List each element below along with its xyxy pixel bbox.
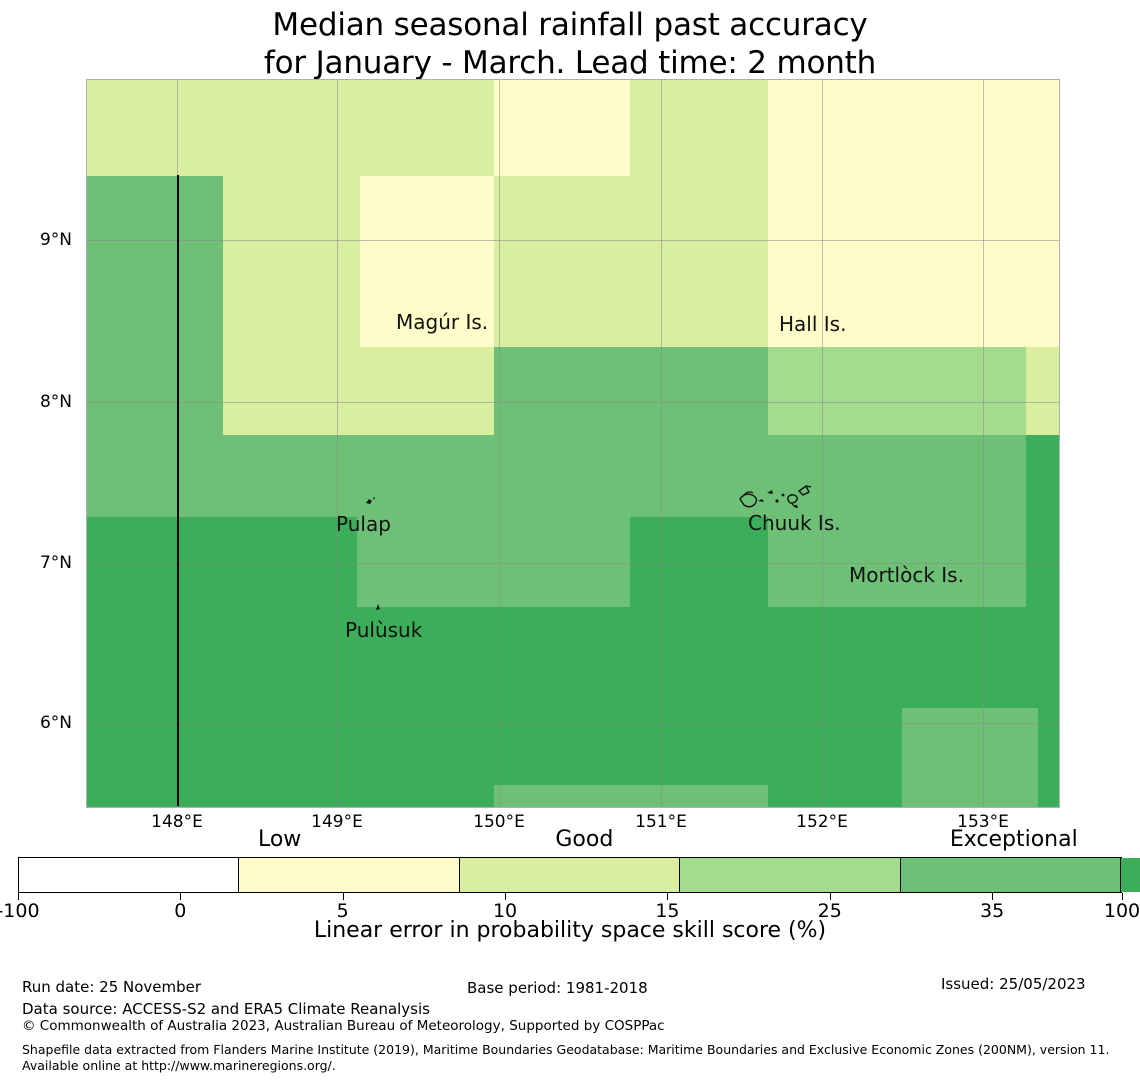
run-date-text: Run date: 25 November [22,978,201,996]
colorbar-tick [830,893,831,900]
colorbar: -1000510152535100LowGoodExceptional [18,857,1122,893]
x-axis-tick-label: 148°E [151,812,203,832]
map-place-label: Pulùsuk [345,618,422,642]
gridline-vertical [822,79,823,808]
gridline-vertical [983,79,984,808]
x-axis-tick-label: 151°E [635,812,687,832]
map-heatmap [86,79,1060,808]
colorbar-segment [900,858,1121,892]
gridline-vertical [499,79,500,808]
colorbar-axis-label: Linear error in probability space skill … [0,918,1140,943]
gridline-vertical [337,79,338,808]
colorbar-tick [18,893,19,900]
colorbar-segment [1120,858,1140,892]
heatmap-cell [360,176,494,262]
map-place-label: Magúr Is. [396,310,488,334]
island-shape-icon [367,600,391,620]
x-axis-tick-label: 153°E [957,812,1009,832]
heatmap-cell [494,785,768,808]
colorbar-tick [992,893,993,900]
heatmap-cell [86,435,1060,517]
colorbar-tick [667,893,668,900]
heatmap-cell [86,262,223,347]
heatmap-cell [768,176,1060,262]
gridline-horizontal [86,240,1060,241]
heatmap-cell [494,79,630,176]
heatmap-cell [223,347,494,435]
colorbar-segment [238,858,459,892]
colorbar-segment [459,858,680,892]
colorbar-tick [343,893,344,900]
gridline-horizontal [86,402,1060,403]
shapefile-attribution-text: Shapefile data extracted from Flanders M… [22,1042,1126,1074]
colorbar-category-label: Low [258,827,301,852]
island-shape-icon [358,494,384,514]
colorbar-segment [679,858,900,892]
issued-date-text: Issued: 25/05/2023 [941,975,1086,993]
x-axis-tick-label: 149°E [311,812,363,832]
heatmap-cell [1026,347,1060,435]
island-shape-icon [736,479,832,523]
heatmap-cell [494,262,630,347]
heatmap-cell [1026,517,1060,607]
gridline-horizontal [86,723,1060,724]
base-period-text: Base period: 1981-2018 [467,979,648,997]
colorbar-tick [505,893,506,900]
copyright-text: © Commonwealth of Australia 2023, Austra… [22,1018,665,1034]
colorbar-tick [180,893,181,900]
colorbar-segment [19,858,239,892]
colorbar-category-label: Good [555,827,613,852]
map-place-label: Mortlòck Is. [849,563,964,587]
heatmap-cell [86,176,223,262]
page-title: Median seasonal rainfall past accuracy f… [0,6,1140,82]
heatmap-cell [86,517,357,607]
colorbar-tick [1122,893,1123,900]
heatmap-cell [768,79,1060,176]
x-axis-tick-label: 150°E [473,812,525,832]
colorbar-gradient [18,857,1122,893]
map-place-label: Pulap [336,512,391,536]
map-place-label: Hall Is. [779,312,846,336]
x-axis-tick-label: 152°E [796,812,848,832]
heatmap-cell [360,262,494,347]
data-source-text: Data source: ACCESS-S2 and ERA5 Climate … [22,1000,430,1018]
heatmap-cell [1026,435,1060,517]
heatmap-cell [768,347,1026,435]
meridian-line [177,175,179,806]
gridline-vertical [661,79,662,808]
